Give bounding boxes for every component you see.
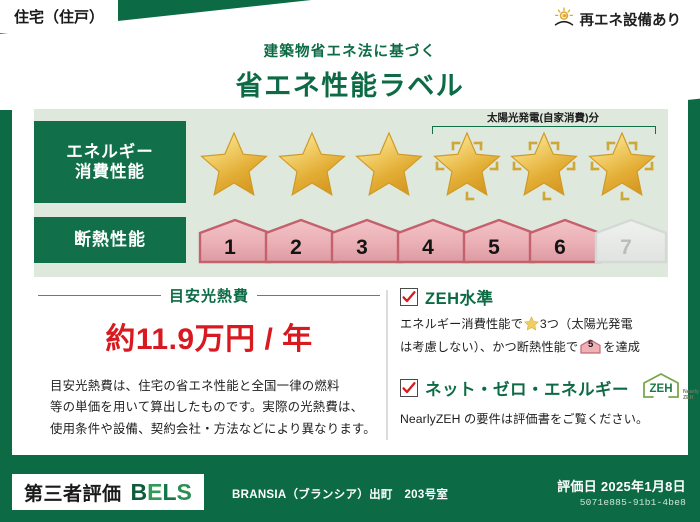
utility-cost-note-line3: 使用条件や設備、契約会社・方法などにより異なります。 <box>50 419 378 440</box>
utility-cost-section: 目安光熱費 約11.9万円 / 年 目安光熱費は、住宅の省エネ性能と全国一律の燃… <box>34 285 384 440</box>
utility-cost-value: 約11.9万円 / 年 <box>34 314 384 358</box>
insulation-grade-value: 1 <box>224 236 236 260</box>
insulation-grade-value: 3 <box>356 236 368 260</box>
zeh-standard-title-row: ZEH水準 <box>400 285 682 309</box>
check-icon <box>402 381 416 395</box>
zeh-house-logo-mark: ZEH <box>641 372 681 404</box>
star-icon-filled <box>353 129 425 201</box>
zeh-house-logo-subtext-line2: ZEH <box>683 395 693 401</box>
insulation-grade-value: 4 <box>422 236 434 260</box>
insulation-grade-value: 2 <box>290 236 302 260</box>
third-party-evaluation-label: 第三者評価 <box>24 479 122 506</box>
insulation-grade-badge: 7 <box>594 218 658 264</box>
third-party-evaluation-tag: 第三者評価 BELS <box>12 474 204 510</box>
zeh-section: ZEH水準 エネルギー消費性能で3つ（太陽光発電は考慮しない）、かつ断熱性能で5… <box>400 285 682 429</box>
property-name: BRANSIA（ブランシア）出町 203号室 <box>232 486 448 502</box>
evaluation-date: 評価日 2025年1月8日 <box>557 476 686 495</box>
insulation-grade-badge: 1 <box>198 218 262 264</box>
label-title-block: 建築物省エネ法に基づく 省エネ性能ラベル <box>0 40 700 103</box>
utility-cost-heading: 目安光熱費 <box>169 285 249 306</box>
zeh-net-zero-title-row: ネット・ゼロ・エネルギー ZEH Nearly ZEH <box>400 372 682 404</box>
zeh-standard-checkbox[interactable] <box>400 288 418 306</box>
insulation-grade-badge: 4 <box>396 218 460 264</box>
zeh-net-zero-block: ネット・ゼロ・エネルギー ZEH Nearly ZEH <box>400 372 682 429</box>
zeh-net-zero-checkbox[interactable] <box>400 379 418 397</box>
utility-cost-rule-left <box>38 295 161 297</box>
zeh-standard-block: ZEH水準 エネルギー消費性能で3つ（太陽光発電は考慮しない）、かつ断熱性能で5… <box>400 285 682 358</box>
performance-panel: エネルギー 消費性能 太陽光発電(自家消費)分 断熱性能 1234567 <box>34 109 668 277</box>
energy-label-root: 住宅（住戸） 再エネ設備あり 建築物省エネ法に基づく 省エネ性能ラベル <box>0 0 700 522</box>
zeh-standard-desc-part4: を達成 <box>603 340 640 354</box>
utility-cost-rule-right <box>257 295 380 297</box>
evaluation-info: 評価日 2025年1月8日 5071e885-91b1-4be8 <box>557 476 686 508</box>
energy-performance-row-label-line1: エネルギー <box>66 142 154 162</box>
inline-insulation-grade-badge: 5 <box>580 339 601 354</box>
energy-performance-row-label: エネルギー 消費性能 <box>34 121 186 203</box>
insulation-grade-value: 6 <box>554 236 566 260</box>
zeh-house-logo-subtext: Nearly ZEH <box>683 390 699 403</box>
zeh-standard-desc-part1: エネルギー消費性能で <box>400 317 523 331</box>
solar-portion-bracket-label: 太陽光発電(自家消費)分 <box>424 110 662 125</box>
check-icon <box>402 290 416 304</box>
label-main-card: エネルギー 消費性能 太陽光発電(自家消費)分 断熱性能 1234567 目安光… <box>12 100 688 455</box>
zeh-standard-description: エネルギー消費性能で3つ（太陽光発電は考慮しない）、かつ断熱性能で5を達成 <box>400 314 682 358</box>
star-icon-solar <box>586 129 658 201</box>
renewable-equipment-badge: 再エネ設備あり <box>546 4 691 34</box>
insulation-performance-row-label: 断熱性能 <box>34 217 186 263</box>
zeh-standard-desc-part2: 3つ（太陽光発電 <box>540 317 633 331</box>
renewable-equipment-badge-label: 再エネ設備あり <box>580 9 682 30</box>
star-icon-filled <box>276 129 348 201</box>
bels-logo: BELS <box>131 479 192 506</box>
insulation-grade-badge: 3 <box>330 218 394 264</box>
energy-performance-stars <box>198 127 658 203</box>
zeh-net-zero-description: NearlyZEH の要件は評価書をご覧ください。 <box>400 409 682 429</box>
section-divider <box>386 290 388 440</box>
house-type-tag: 住宅（住戸） <box>0 0 118 33</box>
zeh-standard-desc-part3: は考慮しない）、かつ断熱性能で <box>400 340 578 354</box>
zeh-house-logo: ZEH Nearly ZEH <box>641 372 699 404</box>
star-icon-solar <box>431 129 503 201</box>
bels-logo-letter-s: S <box>177 479 192 505</box>
bels-logo-letter-b: B <box>131 479 148 505</box>
star-icon-solar <box>508 129 580 201</box>
zeh-standard-title: ZEH水準 <box>425 285 494 309</box>
evaluation-id: 5071e885-91b1-4be8 <box>557 497 686 508</box>
label-title-subtitle: 建築物省エネ法に基づく <box>0 40 700 61</box>
star-icon-filled <box>198 129 270 201</box>
insulation-grade-badge: 6 <box>528 218 592 264</box>
solar-sun-icon <box>553 7 575 32</box>
label-title-main: 省エネ性能ラベル <box>0 64 700 103</box>
utility-cost-heading-row: 目安光熱費 <box>34 285 384 306</box>
bels-logo-letter-l: L <box>162 479 176 505</box>
insulation-grade-badges: 1234567 <box>198 215 658 267</box>
utility-cost-note-line2: 等の単価を用いて算出したものです。実際の光熱費は、 <box>50 397 378 418</box>
insulation-grade-value: 7 <box>620 236 632 260</box>
star-icon <box>524 320 539 334</box>
svg-text:ZEH: ZEH <box>650 383 673 395</box>
utility-cost-note-line1: 目安光熱費は、住宅の省エネ性能と全国一律の燃料 <box>50 376 378 397</box>
energy-performance-row-label-line2: 消費性能 <box>75 162 145 182</box>
utility-cost-note: 目安光熱費は、住宅の省エネ性能と全国一律の燃料 等の単価を用いて算出したものです… <box>34 376 384 440</box>
insulation-grade-badge: 2 <box>264 218 328 264</box>
zeh-net-zero-title: ネット・ゼロ・エネルギー <box>425 376 629 400</box>
inline-insulation-grade-value: 5 <box>580 339 601 354</box>
bels-logo-letter-e: E <box>147 479 162 505</box>
house-type-tag-label: 住宅（住戸） <box>14 6 104 27</box>
insulation-performance-row-label-text: 断熱性能 <box>74 230 146 251</box>
insulation-grade-badge: 5 <box>462 218 526 264</box>
insulation-grade-value: 5 <box>488 236 500 260</box>
